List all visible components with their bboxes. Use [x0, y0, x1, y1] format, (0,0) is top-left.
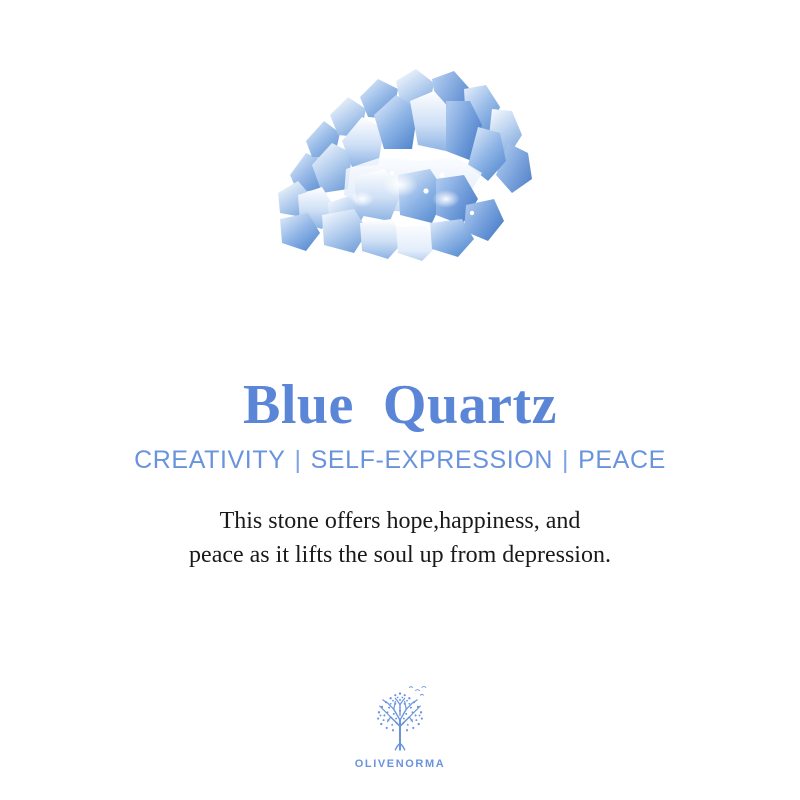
keyword-creativity: CREATIVITY [134, 446, 285, 474]
brand-logo: OLIVENORMA [0, 678, 800, 770]
keyword-peace: PEACE [578, 446, 666, 474]
product-info-card: Blue Quartz CREATIVITY|SELF-EXPRESSION|P… [0, 0, 800, 800]
description-line: This stone offers hope,happiness, and [0, 504, 800, 538]
page-title: Blue Quartz [0, 374, 800, 436]
keyword-separator: | [286, 446, 311, 474]
keyword-list: CREATIVITY|SELF-EXPRESSION|PEACE [0, 444, 800, 476]
tree-of-life-icon [361, 678, 439, 756]
keyword-separator: | [553, 446, 578, 474]
description-line: peace as it lifts the soul up from depre… [0, 538, 800, 572]
blue-quartz-crystal-cluster-icon [250, 57, 550, 267]
keyword-self-expression: SELF-EXPRESSION [311, 446, 553, 474]
description-text: This stone offers hope,happiness, and pe… [0, 504, 800, 572]
hero-image-container [0, 52, 800, 267]
brand-name: OLIVENORMA [355, 758, 446, 770]
